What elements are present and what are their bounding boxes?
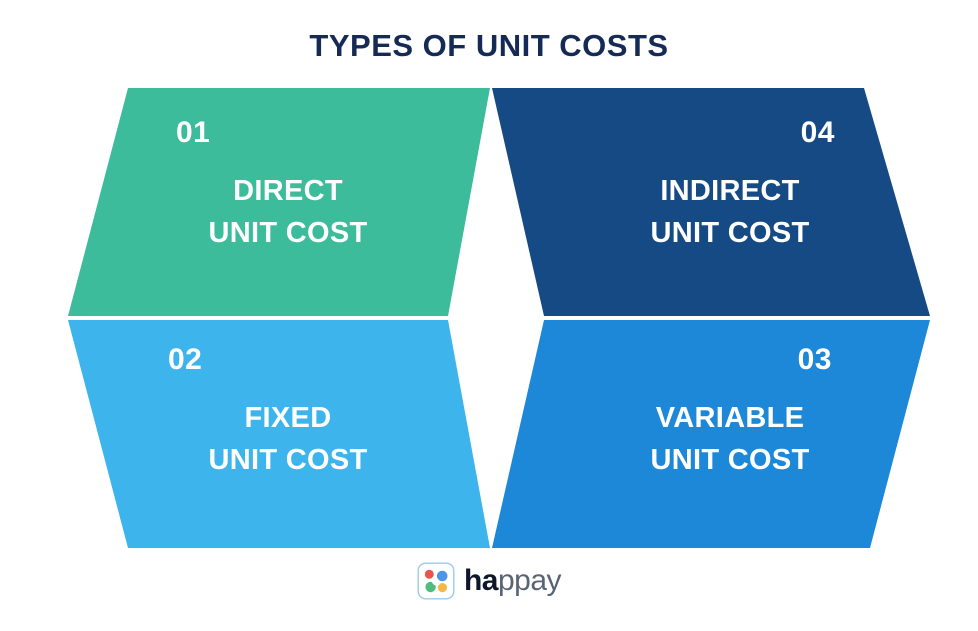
unit-costs-diagram [0,0,978,631]
happay-wordmark-light: ppay [498,564,561,597]
segment-top-right-label-line1: INDIRECT [660,175,799,207]
segment-top-right-label-line2: UNIT COST [651,217,810,249]
segment-bottom-left-text: 02 FIXED UNIT COST [128,345,448,481]
happay-logo-mark-icon [417,562,455,600]
segment-top-left-label-line2: UNIT COST [209,217,368,249]
segment-top-right-number: 04 [570,118,890,148]
happay-wordmark-bold: ha [464,564,498,597]
happay-logo[interactable]: happay [0,562,978,600]
segment-top-right-text: 04 INDIRECT UNIT COST [570,118,890,254]
segment-bottom-left-number: 02 [128,345,448,375]
segment-top-left-label-line1: DIRECT [233,175,343,207]
segment-bottom-right-label-line1: VARIABLE [656,402,804,434]
infographic-canvas: TYPES OF UNIT COSTS 01 DIRECT UNIT COST … [0,0,978,631]
segment-bottom-right-label-line2: UNIT COST [651,444,810,476]
happay-wordmark: happay [464,566,561,596]
segment-bottom-right-text: 03 VARIABLE UNIT COST [570,345,890,481]
segment-bottom-left-label-line1: FIXED [245,402,332,434]
segment-top-left-text: 01 DIRECT UNIT COST [128,118,448,254]
segment-bottom-right-number: 03 [570,345,890,375]
segment-bottom-left-label-line2: UNIT COST [209,444,368,476]
segment-top-left-number: 01 [128,118,448,148]
diagram-shapes [0,0,978,631]
